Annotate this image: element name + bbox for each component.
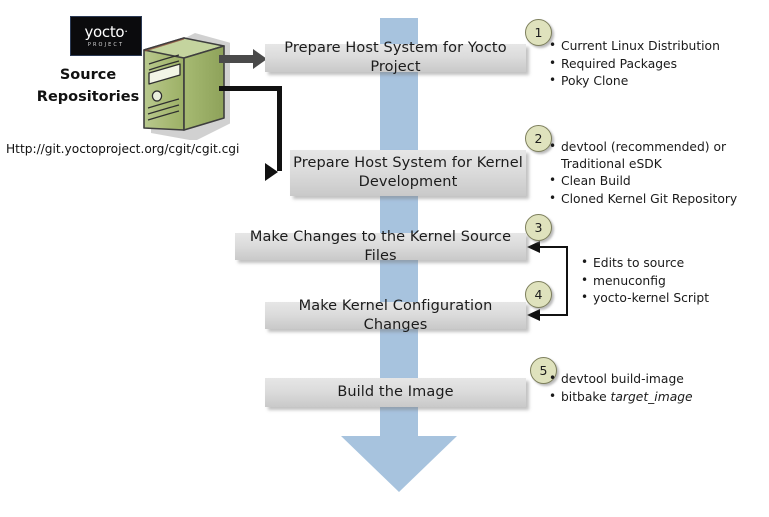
list-item: Poky Clone: [548, 73, 763, 90]
connector-source-to-step2-h1: [219, 86, 282, 91]
step2-number: 2: [535, 131, 543, 146]
list-item: Clean Build: [548, 173, 763, 190]
step-box-prepare-host-yocto[interactable]: Prepare Host System for Yocto Project: [265, 44, 526, 72]
flow-arrow-head-icon: [341, 436, 457, 492]
diagram-canvas: yocto· PROJECT Source Repositories Http:…: [0, 0, 769, 517]
list-item: Required Packages: [548, 56, 763, 73]
list-item: Edits to source: [580, 255, 760, 272]
source-repositories-label: Source Repositories: [36, 64, 140, 108]
step-box-prepare-host-kernel[interactable]: Prepare Host System for Kernel Developme…: [290, 150, 526, 196]
logo-wordmark: yocto·: [84, 24, 127, 40]
server-tower-icon: [134, 28, 230, 140]
step5-bullet-list: devtool build-image bitbake target_image: [548, 371, 763, 406]
step4-box-label: Make Kernel Configuration Changes: [265, 297, 526, 335]
steps-3-4-bullet-list: Edits to source menuconfig yocto-kernel …: [580, 255, 760, 308]
step5-number: 5: [540, 363, 548, 378]
source-repository-url: Http://git.yoctoproject.org/cgit/cgit.cg…: [6, 142, 239, 156]
yocto-project-logo: yocto· PROJECT: [70, 16, 142, 56]
connector-34-bottom-horizontal: [540, 314, 568, 316]
source-label-line2: Repositories: [36, 86, 140, 108]
bitbake-command: bitbake target_image: [561, 389, 763, 406]
step1-number: 1: [535, 25, 543, 40]
list-item: bitbake target_image: [548, 389, 763, 406]
list-item: devtool (recommended) or Traditional eSD…: [548, 139, 763, 172]
step-box-build-the-image[interactable]: Build the Image: [265, 378, 526, 407]
step2-box-label-line1: Prepare Host System for Kernel: [293, 155, 523, 171]
step1-box-label: Prepare Host System for Yocto Project: [265, 39, 526, 77]
connector-34-top-horizontal: [540, 246, 568, 248]
logo-subtitle: PROJECT: [88, 41, 124, 49]
connector-source-to-step2-vert: [277, 86, 282, 171]
step-number-badge-4: 4: [525, 281, 552, 308]
arrowhead-step3-icon: [527, 241, 540, 253]
step1-bullet-list: Current Linux Distribution Required Pack…: [548, 38, 763, 91]
step3-number: 3: [535, 220, 543, 235]
step3-box-label: Make Changes to the Kernel Source Files: [235, 228, 526, 266]
step5-box-label: Build the Image: [337, 383, 453, 402]
connector-34-vertical: [566, 246, 568, 316]
source-label-line1: Source: [36, 64, 140, 86]
step-box-make-kernel-config-changes[interactable]: Make Kernel Configuration Changes: [265, 302, 526, 329]
step-box-make-changes-kernel-source[interactable]: Make Changes to the Kernel Source Files: [235, 233, 526, 260]
list-item: menuconfig: [580, 273, 760, 290]
step4-number: 4: [535, 287, 543, 302]
logo-dot-icon: ·: [124, 25, 127, 38]
list-item: devtool build-image: [548, 371, 763, 388]
arrowhead-step4-icon: [527, 309, 540, 321]
step2-box-label: Prepare Host System for Kernel Developme…: [293, 154, 523, 192]
arrowhead-step2-icon: [265, 163, 278, 181]
connector-source-to-step1: [219, 55, 254, 63]
list-item: yocto-kernel Script: [580, 290, 760, 307]
step-number-badge-3: 3: [525, 214, 552, 241]
step2-box-label-line2: Development: [359, 174, 458, 190]
list-item: Cloned Kernel Git Repository: [548, 191, 763, 208]
bitbake-target-param: target_image: [611, 390, 693, 404]
step2-bullet-list: devtool (recommended) or Traditional eSD…: [548, 139, 763, 208]
list-item: Current Linux Distribution: [548, 38, 763, 55]
